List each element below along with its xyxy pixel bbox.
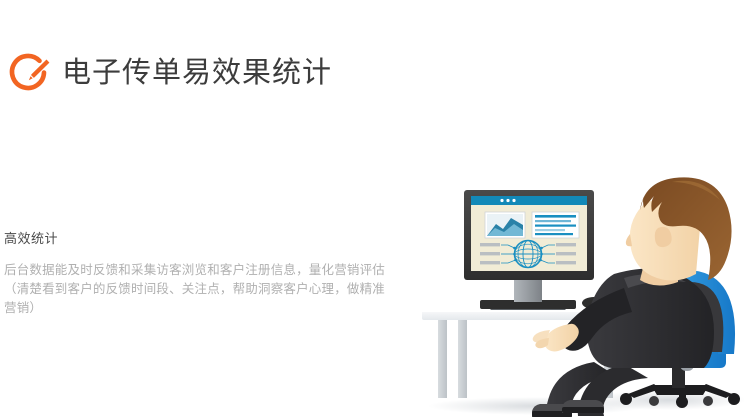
desktop-monitor xyxy=(464,190,606,310)
screen-text-lines xyxy=(532,212,579,238)
feature-copy-block: 高效统计 后台数据能及时反馈和采集访客浏览和客户注册信息，量化营销评估（清楚看到… xyxy=(4,228,396,318)
feature-heading: 高效统计 xyxy=(4,228,396,247)
brand-header: 电子传单易效果统计 xyxy=(6,50,332,96)
screen-titlebar xyxy=(471,196,587,205)
page-title: 电子传单易效果统计 xyxy=(62,59,332,88)
area-chart-thumbnail xyxy=(485,212,525,238)
man-at-desk-using-computer-illustration xyxy=(418,148,744,420)
promo-banner: 电子传单易效果统计 高效统计 后台数据能及时反馈和采集访客浏览和客户注册信息，量… xyxy=(0,0,744,420)
orange-circle-pen-icon xyxy=(6,50,52,96)
feature-description: 后台数据能及时反馈和采集访客浏览和客户注册信息，量化营销评估（清楚看到客户的反馈… xyxy=(4,261,396,318)
